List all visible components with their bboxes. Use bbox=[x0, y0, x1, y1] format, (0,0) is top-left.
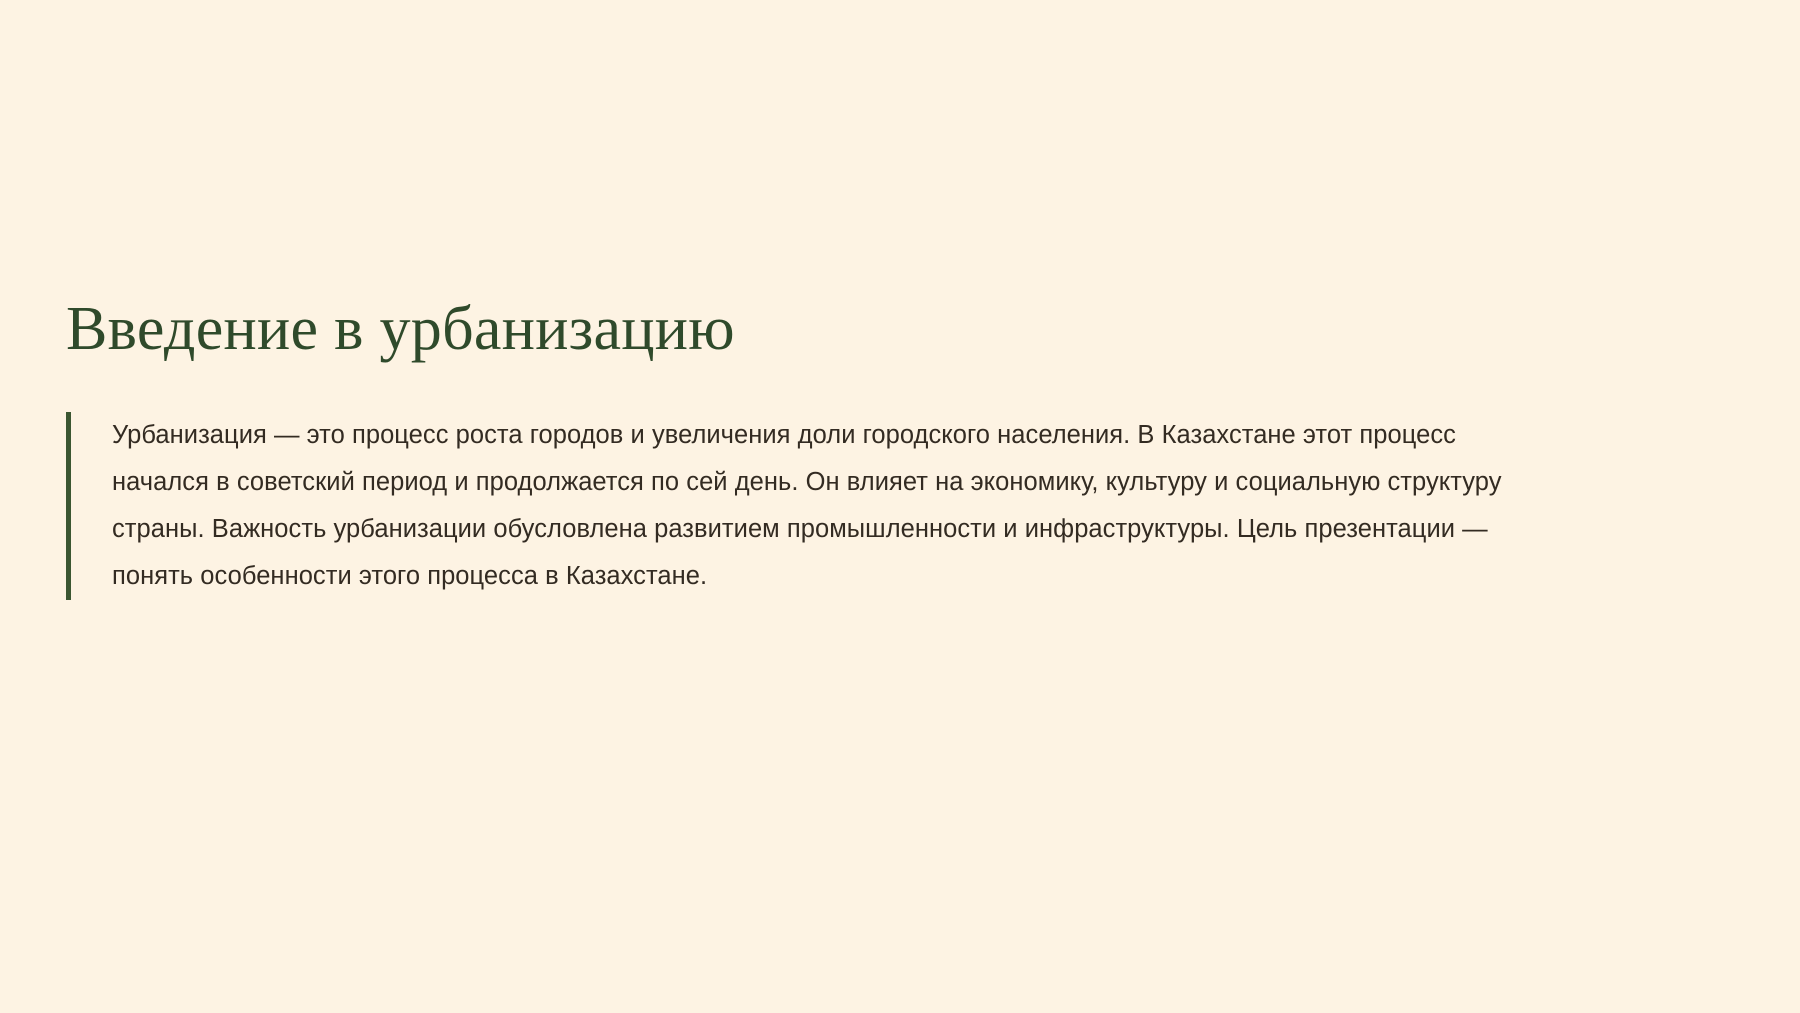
page-title: Введение в урбанизацию bbox=[66, 296, 1726, 363]
body-text-wrap: Урбанизация — это процесс роста городов … bbox=[71, 412, 1726, 600]
body-callout: Урбанизация — это процесс роста городов … bbox=[66, 412, 1726, 600]
body-paragraph: Урбанизация — это процесс роста городов … bbox=[112, 412, 1522, 600]
slide-content: Введение в урбанизацию Урбанизация — это… bbox=[66, 296, 1726, 600]
presentation-slide: Введение в урбанизацию Урбанизация — это… bbox=[0, 0, 1800, 1013]
